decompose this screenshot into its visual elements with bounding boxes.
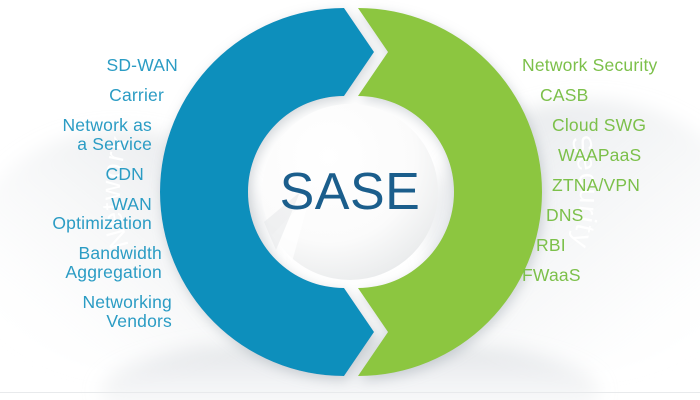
sase-donut-graphic: SASE Network Security xyxy=(0,0,700,400)
bottom-divider xyxy=(0,392,700,393)
center-label: SASE xyxy=(280,163,421,221)
sase-diagram-canvas: SASE Network Security SD-WAN Carrier Net… xyxy=(0,0,700,400)
